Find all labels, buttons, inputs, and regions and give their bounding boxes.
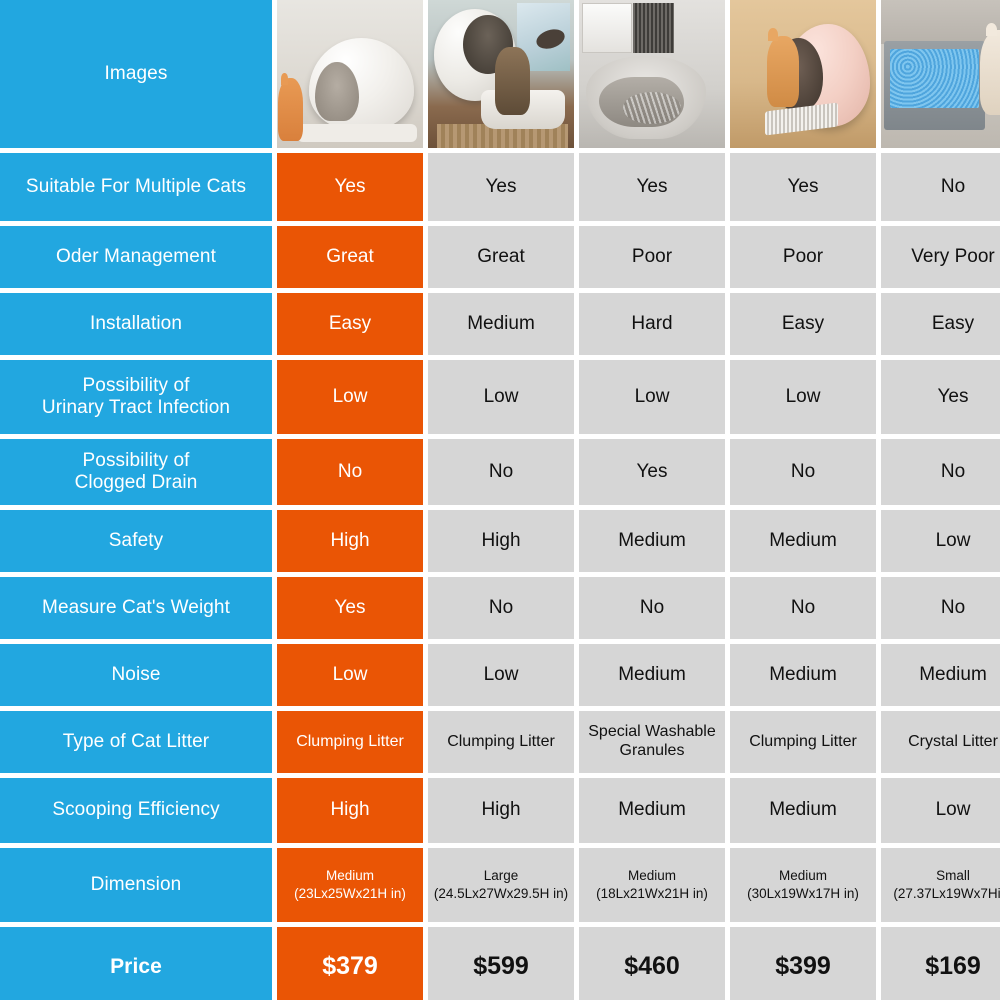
- row-label-text: Dimension: [91, 874, 182, 896]
- cell-litter-4: Clumping Litter: [730, 711, 876, 773]
- dimension-measurement: (27.37Lx19Wx7Hin): [893, 885, 1000, 903]
- wall-background: [881, 0, 1000, 44]
- cell-oder-1: Great: [277, 226, 423, 288]
- cell-weight-3: No: [579, 577, 725, 639]
- row-label-clogged-drain: Possibility of Clogged Drain: [0, 439, 272, 505]
- row-label-line1: Possibility of: [83, 450, 190, 472]
- row-label-text: Type of Cat Litter: [63, 731, 209, 753]
- product-image-2[interactable]: [428, 0, 574, 148]
- row-label-text: Images: [105, 63, 168, 85]
- cell-noise-4: Medium: [730, 644, 876, 706]
- cell-safety-2: High: [428, 510, 574, 572]
- cell-noise-2: Low: [428, 644, 574, 706]
- cell-uti-2: Low: [428, 360, 574, 434]
- cell-suitable-2: Yes: [428, 153, 574, 221]
- cell-dimension-3: Medium (18Lx21Wx21H in): [579, 848, 725, 922]
- cell-clog-3: Yes: [579, 439, 725, 505]
- row-label-urinary-tract-infection: Possibility of Urinary Tract Infection: [0, 360, 272, 434]
- row-label-images: Images: [0, 0, 272, 148]
- cell-scooping-3: Medium: [579, 778, 725, 843]
- cell-safety-3: Medium: [579, 510, 725, 572]
- cell-price-5: $169: [881, 927, 1000, 1000]
- row-label-text: Installation: [90, 313, 182, 335]
- row-label-line2: Urinary Tract Infection: [42, 397, 230, 419]
- open-dome-litter-box-photo: [428, 0, 574, 148]
- entry-hole: [315, 62, 359, 121]
- dimension-size: Medium: [326, 867, 374, 885]
- product-image-1[interactable]: [277, 0, 423, 148]
- row-label-noise: Noise: [0, 644, 272, 706]
- cell-uti-5: Yes: [881, 360, 1000, 434]
- dimension-measurement: (23Lx25Wx21H in): [294, 885, 406, 903]
- cell-uti-4: Low: [730, 360, 876, 434]
- row-label-safety: Safety: [0, 510, 272, 572]
- cell-safety-4: Medium: [730, 510, 876, 572]
- row-label-measure-cats-weight: Measure Cat's Weight: [0, 577, 272, 639]
- product-image-4[interactable]: [730, 0, 876, 148]
- cell-oder-5: Very Poor: [881, 226, 1000, 288]
- lid-panel: [582, 3, 632, 53]
- cell-clog-2: No: [428, 439, 574, 505]
- base-shape: [297, 124, 417, 142]
- cell-installation-1: Easy: [277, 293, 423, 355]
- cell-dimension-4: Medium (30Lx19Wx17H in): [730, 848, 876, 922]
- row-label-price: Price: [0, 927, 272, 1000]
- row-label-text: Price: [110, 955, 162, 980]
- cell-dimension-2: Large (24.5Lx27Wx29.5H in): [428, 848, 574, 922]
- cell-scooping-2: High: [428, 778, 574, 843]
- row-label-suitable-for-multiple-cats: Suitable For Multiple Cats: [0, 153, 272, 221]
- row-label-line2: Clogged Drain: [75, 472, 198, 494]
- cell-weight-4: No: [730, 577, 876, 639]
- open-lid-basin-litter-box-photo: [579, 0, 725, 148]
- cell-litter-3: Special Washable Granules: [579, 711, 725, 773]
- cell-oder-4: Poor: [730, 226, 876, 288]
- dimension-measurement: (30Lx19Wx17H in): [747, 885, 859, 903]
- dimension-measurement: (18Lx21Wx21H in): [596, 885, 708, 903]
- product-image-3[interactable]: [579, 0, 725, 148]
- row-label-type-of-cat-litter: Type of Cat Litter: [0, 711, 272, 773]
- cell-installation-2: Medium: [428, 293, 574, 355]
- mesh-step: [765, 102, 838, 135]
- cell-uti-3: Low: [579, 360, 725, 434]
- cell-litter-1: Clumping Litter: [277, 711, 423, 773]
- cell-clog-5: No: [881, 439, 1000, 505]
- row-label-installation: Installation: [0, 293, 272, 355]
- blue-crystal-litter: [890, 49, 979, 108]
- robot-dome-litter-box-photo: [277, 0, 423, 148]
- cell-installation-4: Easy: [730, 293, 876, 355]
- cell-scooping-4: Medium: [730, 778, 876, 843]
- row-label-text: Suitable For Multiple Cats: [26, 176, 246, 198]
- cell-scooping-5: Low: [881, 778, 1000, 843]
- product-image-5[interactable]: [881, 0, 1000, 148]
- cell-suitable-1: Yes: [277, 153, 423, 221]
- ginger-cat: [767, 36, 799, 107]
- comparison-table: Images: [0, 0, 1000, 1000]
- row-label-text: Scooping Efficiency: [52, 799, 219, 821]
- cell-oder-2: Great: [428, 226, 574, 288]
- cell-weight-2: No: [428, 577, 574, 639]
- cell-noise-1: Low: [277, 644, 423, 706]
- cell-litter-5: Crystal Litter: [881, 711, 1000, 773]
- cell-installation-3: Hard: [579, 293, 725, 355]
- cell-price-3: $460: [579, 927, 725, 1000]
- dimension-size: Medium: [779, 867, 827, 885]
- pink-egg-litter-box-photo: [730, 0, 876, 148]
- row-label-text: Noise: [111, 664, 160, 686]
- row-label-text: Measure Cat's Weight: [42, 597, 230, 619]
- white-cat: [980, 30, 1000, 116]
- cell-scooping-1: High: [277, 778, 423, 843]
- cell-installation-5: Easy: [881, 293, 1000, 355]
- tabby-cat: [495, 47, 530, 115]
- cell-noise-3: Medium: [579, 644, 725, 706]
- dimension-measurement: (24.5Lx27Wx29.5H in): [434, 885, 568, 903]
- dimension-size: Large: [484, 867, 519, 885]
- cell-clog-1: No: [277, 439, 423, 505]
- cell-price-2: $599: [428, 927, 574, 1000]
- row-label-scooping-efficiency: Scooping Efficiency: [0, 778, 272, 843]
- cell-weight-5: No: [881, 577, 1000, 639]
- row-label-line1: Possibility of: [83, 375, 190, 397]
- row-label-text: Oder Management: [56, 246, 216, 268]
- cell-weight-1: Yes: [277, 577, 423, 639]
- metal-tray-crystal-litter-photo: [881, 0, 1000, 148]
- mesh-pattern: [623, 92, 681, 125]
- cell-suitable-3: Yes: [579, 153, 725, 221]
- row-label-text: Safety: [109, 530, 163, 552]
- cell-noise-5: Medium: [881, 644, 1000, 706]
- cell-dimension-1: Medium (23Lx25Wx21H in): [277, 848, 423, 922]
- cell-price-4: $399: [730, 927, 876, 1000]
- cell-oder-3: Poor: [579, 226, 725, 288]
- cell-price-1: $379: [277, 927, 423, 1000]
- cell-uti-1: Low: [277, 360, 423, 434]
- grate-panel: [633, 3, 674, 53]
- cell-suitable-5: No: [881, 153, 1000, 221]
- row-label-oder-management: Oder Management: [0, 226, 272, 288]
- cell-clog-4: No: [730, 439, 876, 505]
- cell-suitable-4: Yes: [730, 153, 876, 221]
- dimension-size: Small: [936, 867, 970, 885]
- row-label-dimension: Dimension: [0, 848, 272, 922]
- cell-safety-1: High: [277, 510, 423, 572]
- cell-dimension-5: Small (27.37Lx19Wx7Hin): [881, 848, 1000, 922]
- ginger-cat: [278, 78, 303, 140]
- cell-safety-5: Low: [881, 510, 1000, 572]
- dimension-size: Medium: [628, 867, 676, 885]
- cell-litter-2: Clumping Litter: [428, 711, 574, 773]
